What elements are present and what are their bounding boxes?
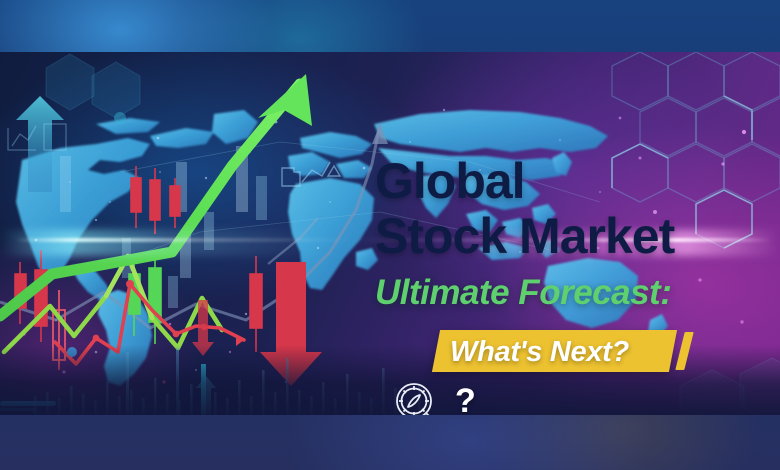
subheading: Ultimate Forecast: [375,273,671,313]
poster-text-block: Global Stock Market Ultimate Forecast: W… [375,110,775,410]
banner-accent-slash [675,332,693,370]
banner-label: What's Next? [450,336,629,369]
question-mark-glyph: ? [455,382,476,415]
poster-image: Global Stock Market Ultimate Forecast: W… [0,52,780,415]
page-title-line1: Global [375,156,525,206]
page-title-line2: Stock Market [375,211,674,261]
compass-magnifier-icon [391,378,445,415]
screenshot-stage: Global Stock Market Ultimate Forecast: W… [0,0,780,470]
